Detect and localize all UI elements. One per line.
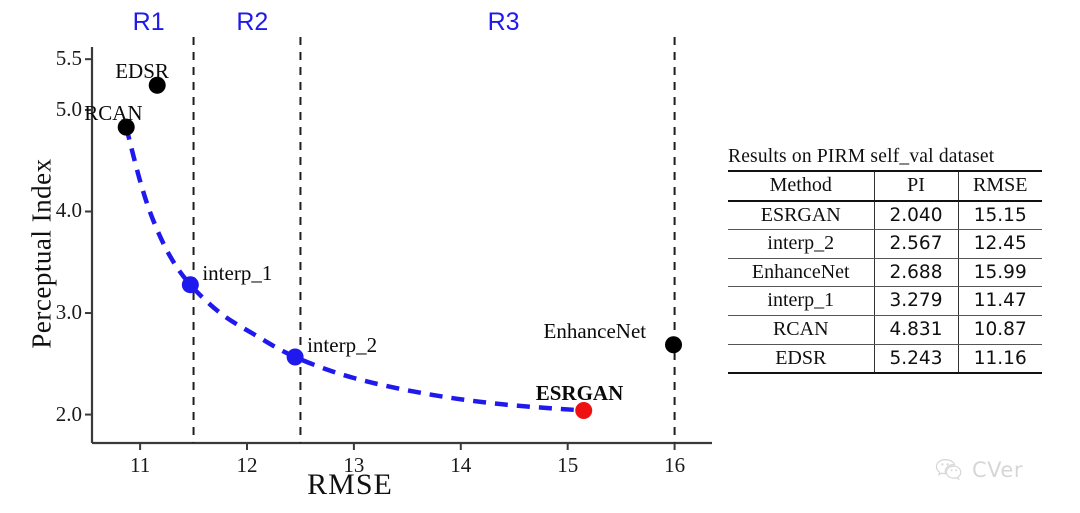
cell-method: interp_1 bbox=[728, 287, 874, 316]
trend-curve bbox=[126, 127, 584, 410]
table-row: EDSR5.24311.16 bbox=[728, 344, 1042, 373]
cell-method: RCAN bbox=[728, 315, 874, 344]
scatter-chart: 2.03.04.05.05.5111213141516 R1R2R3 EDSRR… bbox=[0, 0, 720, 513]
point-label-esrgan: ESRGAN bbox=[536, 381, 624, 406]
table-row: interp_22.56712.45 bbox=[728, 230, 1042, 259]
cell-pi: 2.688 bbox=[874, 258, 958, 287]
cell-pi: 3.279 bbox=[874, 287, 958, 316]
point-label-rcan: RCAN bbox=[84, 101, 142, 126]
results-table-body: ESRGAN2.04015.15interp_22.56712.45Enhanc… bbox=[728, 201, 1042, 374]
table-row: EnhanceNet2.68815.99 bbox=[728, 258, 1042, 287]
point-label-enhancenet: EnhanceNet bbox=[544, 319, 647, 344]
table-row: interp_13.27911.47 bbox=[728, 287, 1042, 316]
column-header-method: Method bbox=[728, 171, 874, 201]
y-tick-label: 2.0 bbox=[26, 402, 82, 427]
region-label-r2: R2 bbox=[236, 8, 268, 37]
column-header-pi: PI bbox=[874, 171, 958, 201]
point-label-edsr: EDSR bbox=[115, 59, 169, 84]
cell-rmse: 15.15 bbox=[958, 201, 1042, 230]
figure-root: 2.03.04.05.05.5111213141516 R1R2R3 EDSRR… bbox=[0, 0, 1080, 513]
point-label-interp_2: interp_2 bbox=[307, 333, 377, 358]
x-tick-label: 15 bbox=[545, 453, 591, 478]
table-row: ESRGAN2.04015.15 bbox=[728, 201, 1042, 230]
cell-rmse: 11.16 bbox=[958, 344, 1042, 373]
cell-method: interp_2 bbox=[728, 230, 874, 259]
region-label-r3: R3 bbox=[488, 8, 520, 37]
cell-pi: 5.243 bbox=[874, 344, 958, 373]
data-point-enhancenet bbox=[665, 336, 682, 353]
table-row: RCAN4.83110.87 bbox=[728, 315, 1042, 344]
region-label-r1: R1 bbox=[133, 8, 165, 37]
y-tick-label: 5.5 bbox=[26, 46, 82, 71]
table-caption: Results on PIRM self_val dataset bbox=[728, 146, 1044, 170]
cell-pi: 2.567 bbox=[874, 230, 958, 259]
chart-canvas bbox=[0, 0, 720, 513]
y-tick-label: 5.0 bbox=[26, 97, 82, 122]
results-table: Method PI RMSE ESRGAN2.04015.15interp_22… bbox=[728, 170, 1042, 374]
data-point-interp_2 bbox=[287, 348, 304, 365]
table-header-row: Method PI RMSE bbox=[728, 171, 1042, 201]
results-table-panel: Results on PIRM self_val dataset Method … bbox=[728, 146, 1044, 374]
data-points bbox=[118, 77, 682, 419]
watermark: CVer bbox=[935, 458, 1023, 482]
wechat-icon bbox=[935, 458, 965, 482]
cell-method: ESRGAN bbox=[728, 201, 874, 230]
x-tick-label: 11 bbox=[117, 453, 163, 478]
point-label-interp_1: interp_1 bbox=[202, 261, 272, 286]
cell-pi: 4.831 bbox=[874, 315, 958, 344]
y-axis-title: Perceptual Index bbox=[27, 124, 58, 384]
cell-pi: 2.040 bbox=[874, 201, 958, 230]
data-point-interp_1 bbox=[182, 276, 199, 293]
cell-rmse: 12.45 bbox=[958, 230, 1042, 259]
column-header-rmse: RMSE bbox=[958, 171, 1042, 201]
x-tick-label: 16 bbox=[652, 453, 698, 478]
cell-rmse: 11.47 bbox=[958, 287, 1042, 316]
x-axis-title: RMSE bbox=[250, 468, 450, 502]
cell-rmse: 15.99 bbox=[958, 258, 1042, 287]
cell-method: EDSR bbox=[728, 344, 874, 373]
cell-rmse: 10.87 bbox=[958, 315, 1042, 344]
watermark-text: CVer bbox=[972, 458, 1023, 482]
cell-method: EnhanceNet bbox=[728, 258, 874, 287]
